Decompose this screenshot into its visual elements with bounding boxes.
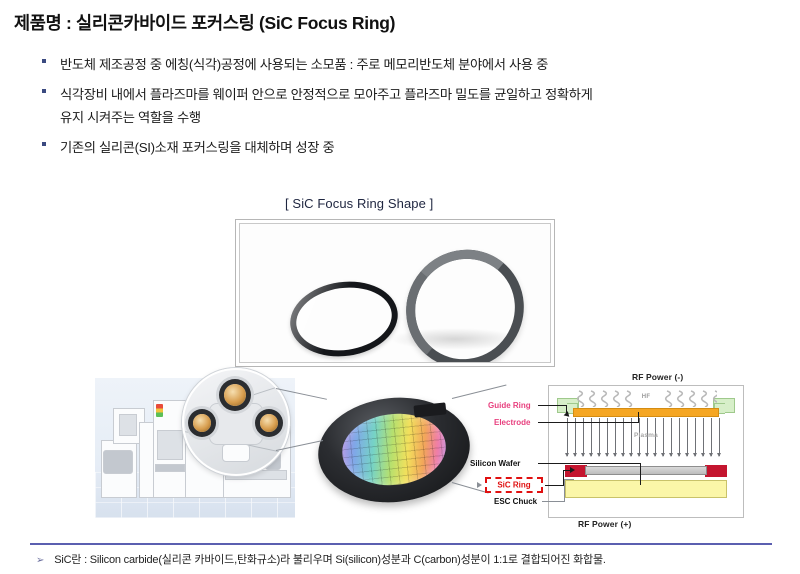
footer-note: ➢SiC란 : Silicon carbide(실리콘 카바이드,탄화규소)라 … (36, 551, 786, 567)
plasma-arrow-icon (631, 418, 632, 456)
list-item: 식각장비 내에서 플라즈마를 웨이퍼 안으로 안정적으로 모아주고 플라즈마 밀… (40, 83, 792, 129)
sic-ring-label: SiC Ring (497, 481, 530, 490)
etch-chamber-schematic: HF Plasma (548, 385, 744, 518)
thick-focus-ring-image (402, 244, 528, 362)
chamber-base (222, 444, 250, 462)
equipment-shelf (155, 464, 185, 472)
silicon-wafer-label: Silicon Wafer (470, 459, 520, 468)
silicon-wafer-leader (538, 463, 640, 464)
wafer-with-focus-ring-photo (318, 398, 470, 502)
equipment-module (119, 414, 137, 436)
plasma-arrow-icon (615, 418, 616, 456)
sic-ring-right (705, 465, 727, 477)
callout-leader-line (452, 384, 507, 399)
plasma-arrow-icon (575, 418, 576, 456)
silicon-wafer-leader (640, 463, 641, 485)
plasma-arrow-icon (623, 418, 624, 456)
guide-ring-label: Guide Ring (488, 401, 531, 410)
plasma-arrow-icon (663, 418, 664, 456)
electrode-bar (573, 408, 719, 417)
plasma-arrow-icon (687, 418, 688, 456)
footer-text: SiC란 : Silicon carbide(실리콘 카바이드,탄화규소)라 불… (54, 554, 606, 566)
hf-label: HF (642, 394, 650, 400)
chamber-magnifier-inset (182, 368, 290, 476)
chamber-port-icon (260, 414, 278, 432)
bullet-text: 식각장비 내에서 플라즈마를 웨이퍼 안으로 안정적으로 모아주고 플라즈마 밀… (60, 87, 593, 102)
bullet-marker-icon (42, 59, 46, 63)
sic-ring-callout-box: SiC Ring (485, 477, 543, 493)
plasma-label: Plasma (634, 432, 658, 439)
guide-ring-leader (538, 405, 566, 406)
plasma-arrow-icon (719, 418, 720, 456)
chamber-port-icon (193, 414, 211, 432)
plasma-arrow-icon (671, 418, 672, 456)
footer-arrow-icon: ➢ (36, 555, 44, 566)
sic-ring-leader-arrow (570, 467, 575, 473)
plasma-arrow-icon (567, 418, 568, 456)
equipment-module (103, 450, 133, 474)
electrode-leader (638, 412, 639, 423)
electrode-leader (538, 422, 638, 423)
focus-ring-photo (240, 224, 550, 362)
footer-divider (30, 543, 772, 545)
electrode-label: Electrode (494, 418, 530, 427)
esc-chuck-label: ESC Chuck (494, 497, 537, 506)
plasma-arrow-icon (679, 418, 680, 456)
sic-ring-incoming-arrow (477, 482, 482, 488)
plasma-zone: Plasma (567, 418, 725, 460)
bullet-text: 기존의 실리콘(SI)소재 포커스링을 대체하며 성장 중 (60, 140, 334, 155)
esc-chuck-bar (565, 480, 727, 498)
esc-chuck-leader (542, 501, 564, 502)
shape-photo-caption: [ SiC Focus Ring Shape ] (285, 196, 433, 211)
hf-wave-zone: HF (575, 389, 717, 407)
rf-power-top-label: RF Power (-) (632, 372, 683, 382)
thin-focus-ring-image (285, 275, 402, 362)
plasma-arrow-icon (599, 418, 600, 456)
list-item: 기존의 실리콘(SI)소재 포커스링을 대체하며 성장 중 (40, 136, 792, 159)
sic-ring-leader (545, 485, 563, 486)
status-lamp-icon (156, 404, 163, 417)
rf-power-bottom-label: RF Power (+) (578, 519, 631, 529)
plasma-arrow-icon (711, 418, 712, 456)
esc-chuck-leader (564, 479, 565, 502)
bullet-marker-icon (42, 142, 46, 146)
plasma-arrow-icon (695, 418, 696, 456)
silicon-wafer-bar (585, 466, 707, 475)
bullet-text-continuation: 유지 시켜주는 역할을 수행 (60, 106, 792, 129)
bullet-text: 반도체 제조공정 중 에칭(식각)공정에 사용되는 소모품 : 주로 메모리반도… (60, 57, 548, 72)
equipment-window (157, 430, 183, 460)
bullet-marker-icon (42, 89, 46, 93)
focus-ring-photo-frame (235, 219, 555, 367)
chamber-hub (209, 403, 263, 445)
page-title: 제품명 : 실리콘카바이드 포커스링 (SiC Focus Ring) (14, 10, 395, 35)
bullet-list: 반도체 제조공정 중 에칭(식각)공정에 사용되는 소모품 : 주로 메모리반도… (40, 53, 792, 166)
plasma-arrow-icon (583, 418, 584, 456)
slide-root: 제품명 : 실리콘카바이드 포커스링 (SiC Focus Ring) 반도체 … (0, 0, 800, 574)
plasma-arrow-icon (703, 418, 704, 456)
chamber-port-icon (224, 384, 246, 406)
sic-ring-left (565, 465, 587, 477)
list-item: 반도체 제조공정 중 에칭(식각)공정에 사용되는 소모품 : 주로 메모리반도… (40, 53, 792, 76)
plasma-arrow-icon (591, 418, 592, 456)
esc-chuck-leader (564, 479, 574, 480)
plasma-arrow-icon (607, 418, 608, 456)
